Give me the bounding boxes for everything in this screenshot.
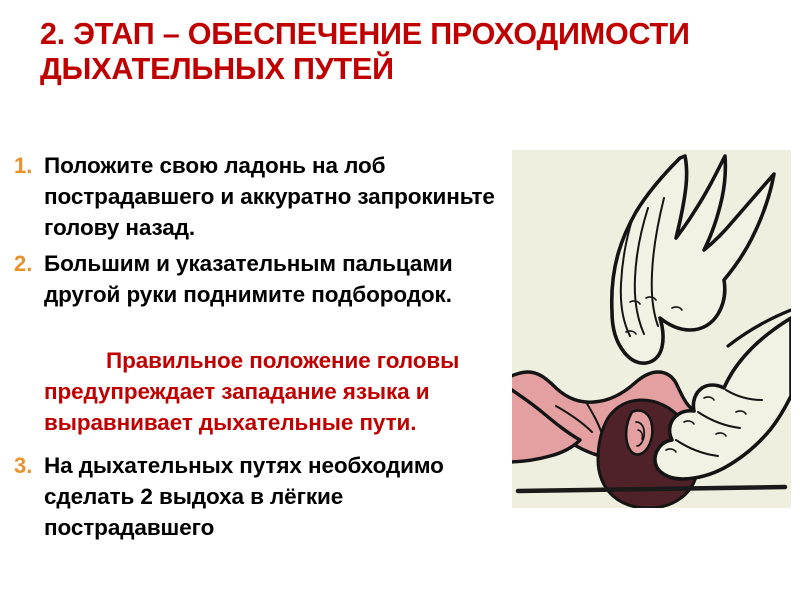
list-item-number: 2.: [14, 248, 44, 279]
list-item-text: Большим и указательным пальцами другой р…: [44, 248, 506, 310]
list-item-number: 1.: [14, 150, 44, 181]
illustration-svg: [512, 150, 791, 508]
list-item: 3. На дыхательных путях необходимо сдела…: [14, 450, 506, 543]
list-item-number: 3.: [14, 450, 44, 481]
instruction-list: 1. Положите свою ладонь на лоб пострадав…: [0, 146, 512, 546]
emphasis-paragraph: Правильное положение головы предупреждае…: [44, 345, 512, 438]
list-item: 1. Положите свою ладонь на лоб пострадав…: [14, 150, 506, 243]
victim-ear: [626, 410, 652, 454]
head-tilt-chin-lift-illustration: [512, 150, 791, 508]
slide-canvas: 2. ЭТАП – ОБЕСПЕЧЕНИЕ ПРОХОДИМОСТИ ДЫХАТ…: [0, 0, 800, 600]
list-item: 2. Большим и указательным пальцами друго…: [14, 248, 506, 310]
page-title: 2. ЭТАП – ОБЕСПЕЧЕНИЕ ПРОХОДИМОСТИ ДЫХАТ…: [40, 17, 770, 87]
list-item-text: Положите свою ладонь на лоб пострадавшег…: [44, 150, 506, 243]
list-item-text: На дыхательных путях необходимо сделать …: [44, 450, 506, 543]
